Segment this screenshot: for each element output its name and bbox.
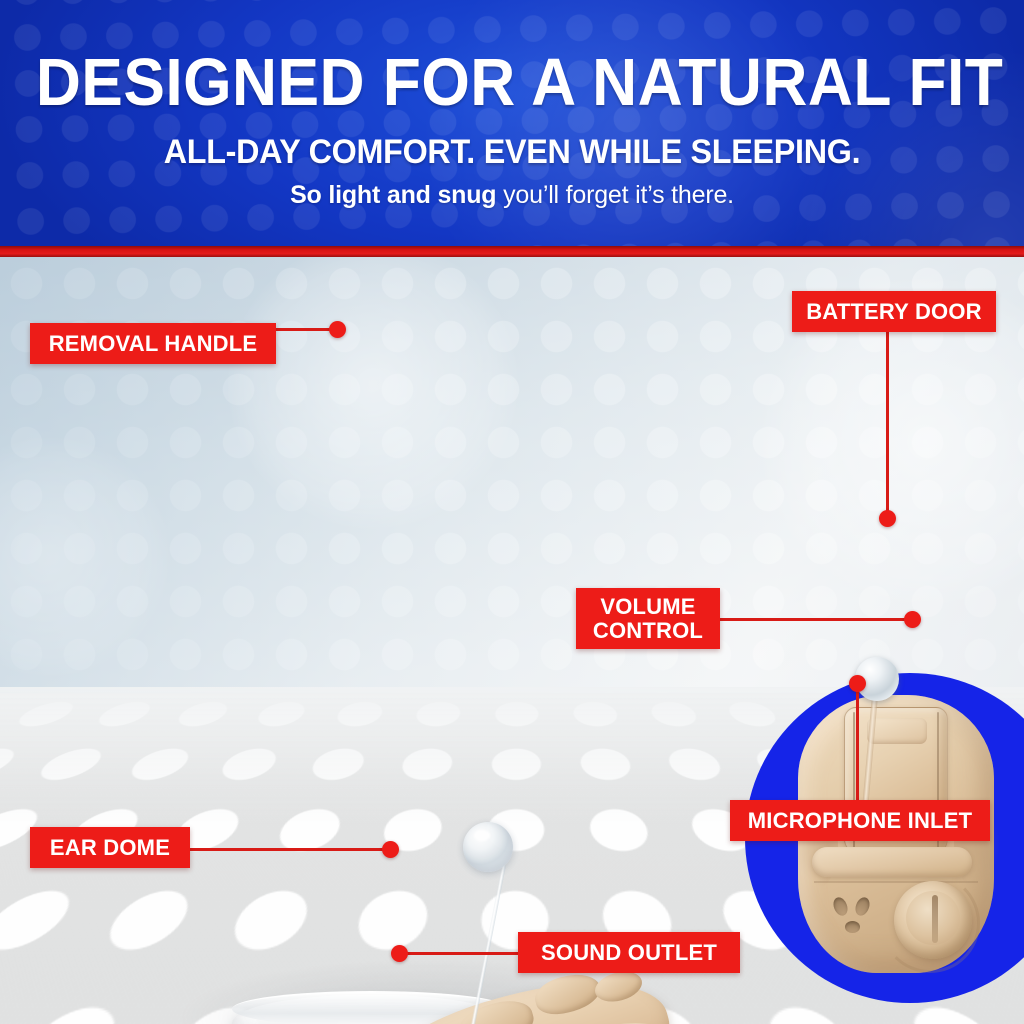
leader-line-ear-dome	[188, 848, 394, 851]
page-title: DESIGNED FOR A NATURAL FIT	[36, 47, 988, 119]
leader-dot-volume-control	[904, 611, 921, 628]
label-microphone-inlet[interactable]: MICROPHONE INLET	[730, 800, 990, 841]
volume-dial-notch	[932, 895, 938, 943]
infographic-canvas: DESIGNED FOR A NATURAL FIT ALL-DAY COMFO…	[0, 0, 1024, 1024]
page-tagline: So light and snug you’ll forget it’s the…	[0, 180, 1024, 210]
leader-line-volume-control	[716, 618, 916, 621]
label-removal-handle[interactable]: REMOVAL HANDLE	[30, 323, 276, 364]
label-battery-door[interactable]: BATTERY DOOR	[792, 291, 996, 332]
leader-line-battery-door	[886, 327, 889, 517]
page-subtitle: ALL-DAY COMFORT. EVEN WHILE SLEEPING.	[26, 133, 999, 171]
red-divider	[0, 246, 1024, 257]
mic-hole	[853, 895, 872, 917]
leader-dot-battery-door	[879, 510, 896, 527]
battery-door-tab	[867, 718, 927, 744]
leader-dot-ear-dome	[382, 841, 399, 858]
ear-dome-small	[150, 517, 362, 649]
microphone-inlet-part	[832, 897, 876, 945]
label-sound-outlet[interactable]: SOUND OUTLET	[518, 932, 740, 973]
leader-dot-sound-outlet	[391, 945, 408, 962]
leader-line-sound-outlet	[400, 952, 520, 955]
volume-dial-inner	[906, 891, 960, 945]
header-banner: DESIGNED FOR A NATURAL FIT ALL-DAY COMFO…	[0, 0, 1024, 246]
mic-hole	[845, 921, 860, 933]
label-ear-dome[interactable]: EAR DOME	[30, 827, 190, 868]
tagline-bold: So light and snug	[290, 181, 496, 209]
label-volume-control[interactable]: VOLUME CONTROL	[576, 588, 720, 649]
leader-line-microphone-inlet	[856, 683, 859, 803]
battery-hinge-bar	[812, 847, 972, 877]
mic-hole	[831, 895, 850, 917]
volume-control-part	[894, 881, 972, 959]
leader-dot-microphone-inlet	[849, 675, 866, 692]
leader-line-removal-handle	[275, 328, 337, 331]
product-scene	[0, 257, 1024, 1024]
tagline-rest: you’ll forget it’s there.	[496, 181, 734, 209]
removal-handle-ball	[463, 822, 513, 872]
leader-dot-removal-handle	[329, 321, 346, 338]
